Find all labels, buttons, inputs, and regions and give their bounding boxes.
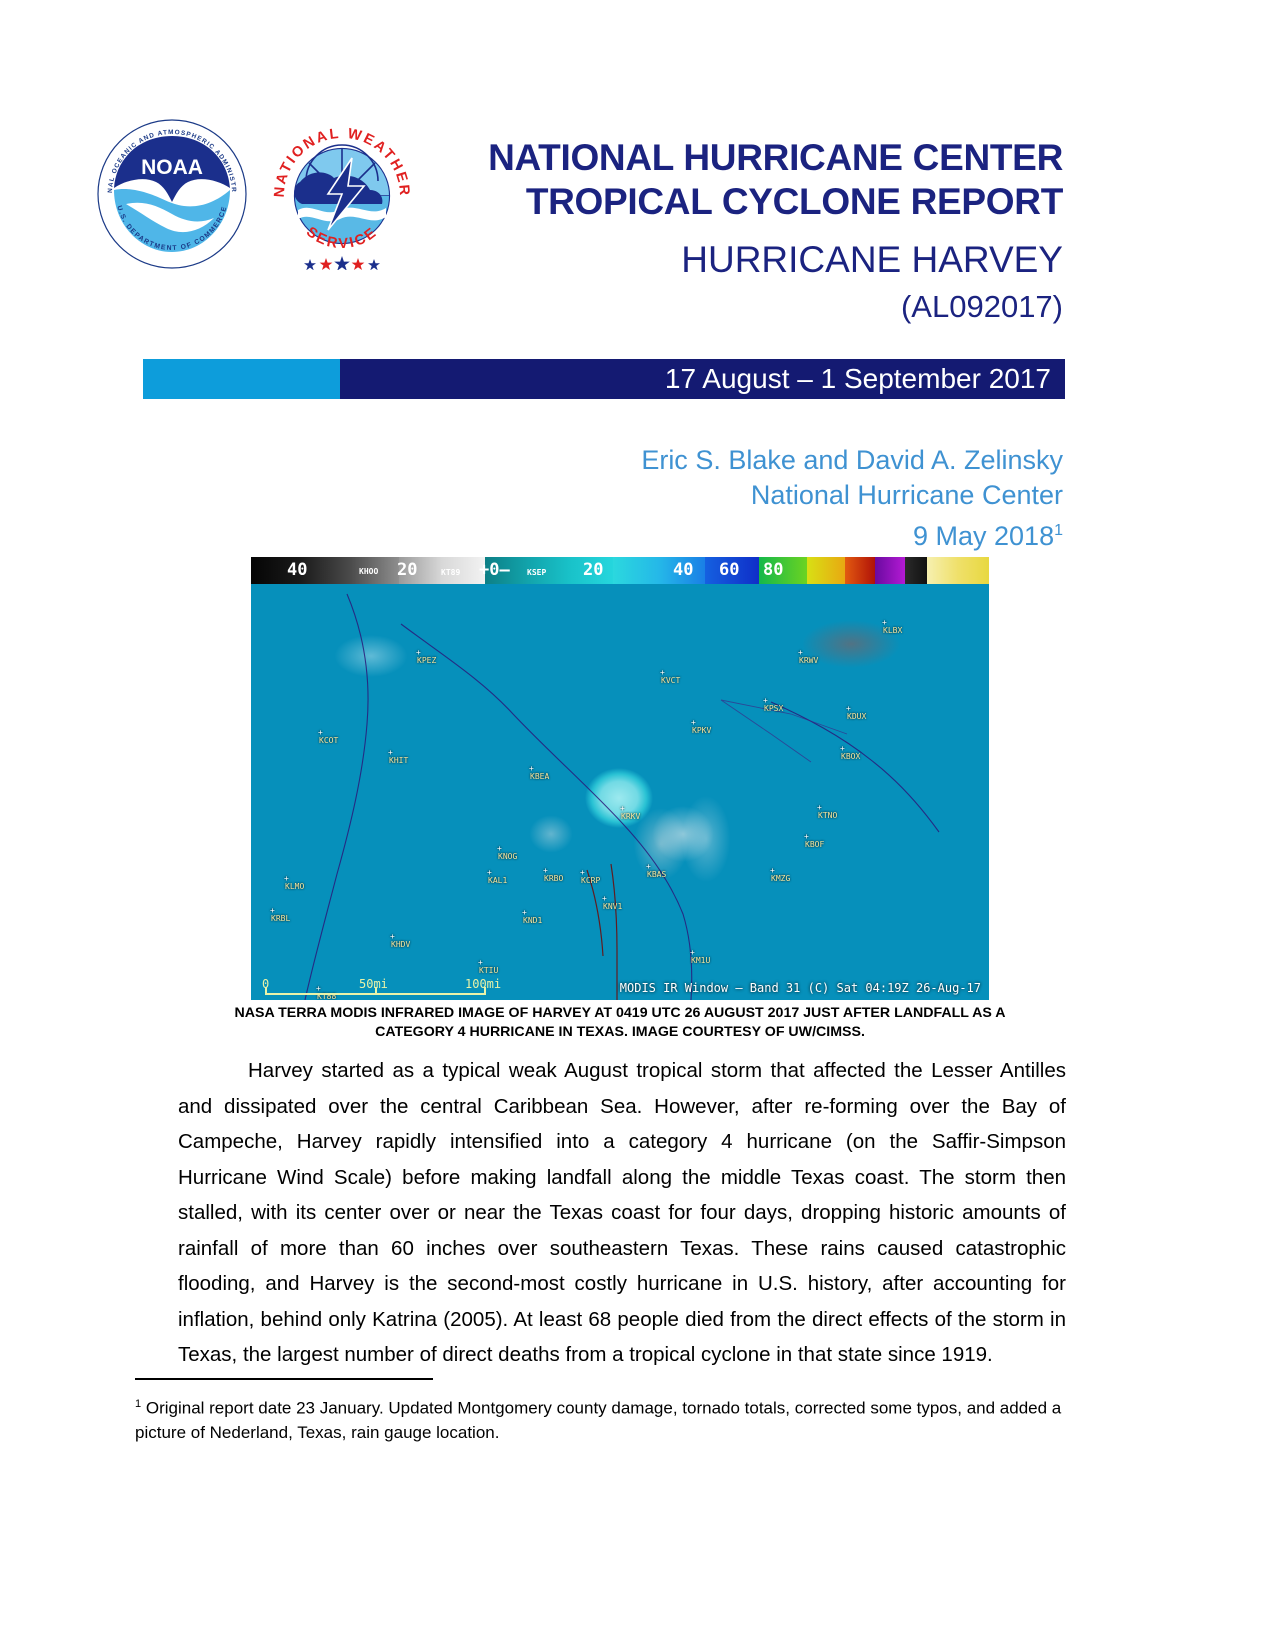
banner-date-range: 17 August – 1 September 2017 xyxy=(340,359,1065,399)
figure-caption: NASA TERRA MODIS INFRARED IMAGE OF HARVE… xyxy=(200,1004,1040,1042)
nws-logo: NATIONAL WEATHER SERVICE xyxy=(266,118,418,270)
station-label: KRBL xyxy=(271,914,290,923)
scale-label-mid: 50mi xyxy=(359,977,388,991)
title-line-1: NATIONAL HURRICANE CENTER xyxy=(403,136,1063,180)
station-label: KCRP xyxy=(581,876,600,885)
station-label: KMZG xyxy=(771,874,790,883)
station-label: KPSX xyxy=(764,704,783,713)
date-banner: 17 August – 1 September 2017 xyxy=(143,359,1065,399)
colorbar-label-0: 40 xyxy=(287,557,307,584)
station-label: KPEZ xyxy=(417,656,436,665)
colorbar-label-5: 60 xyxy=(719,557,739,584)
station-label: KVCT xyxy=(661,676,680,685)
satellite-figure: 40 20 +0– 20 40 60 80 KHOO KT89 KSEP xyxy=(251,557,989,1000)
svg-text:NOAA: NOAA xyxy=(141,156,203,179)
station-label: KBAS xyxy=(647,870,666,879)
footnote-separator xyxy=(135,1378,433,1380)
station-label: KAL1 xyxy=(488,876,507,885)
scale-label-end: 100mi xyxy=(465,977,501,991)
scale-label-zero: 0 xyxy=(262,977,269,991)
station-label: KHDV xyxy=(391,940,410,949)
colorbar-labels: 40 20 +0– 20 40 60 80 KHOO KT89 KSEP xyxy=(251,557,989,584)
station-label: KBOF xyxy=(805,840,824,849)
station-label: KBEA xyxy=(530,772,549,781)
station-label: KBOX xyxy=(841,752,860,761)
station-label: KHIT xyxy=(389,756,408,765)
footnote: 1 Original report date 23 January. Updat… xyxy=(135,1392,1070,1445)
station-label: KRKV xyxy=(621,812,640,821)
station-label: KCOT xyxy=(319,736,338,745)
figure-caption-line-2: CATEGORY 4 HURRICANE IN TEXAS. IMAGE COU… xyxy=(200,1023,1040,1042)
station-label: KPKV xyxy=(692,726,711,735)
document-page: NOAA NATIONAL OCEANIC AND ATMOSPHERIC AD… xyxy=(0,0,1265,1637)
station-label: KDUX xyxy=(847,712,866,721)
colorbar-label-2: +0– xyxy=(479,557,510,584)
colorbar-label-1: 20 xyxy=(397,557,417,584)
author-affiliation: National Hurricane Center xyxy=(641,478,1063,513)
figure-caption-line-1: NASA TERRA MODIS INFRARED IMAGE OF HARVE… xyxy=(200,1004,1040,1023)
author-names: Eric S. Blake and David A. Zelinsky xyxy=(641,443,1063,478)
colorbar-label-3: 20 xyxy=(583,557,603,584)
author-date-footnote-marker: 1 xyxy=(1054,522,1063,539)
storm-name: HURRICANE HARVEY xyxy=(403,234,1063,286)
agency-logos: NOAA NATIONAL OCEANIC AND ATMOSPHERIC AD… xyxy=(96,118,418,270)
station-label: KND1 xyxy=(523,916,542,925)
station-label: KTIU xyxy=(479,966,498,975)
modis-credit-text: MODIS IR Window – Band 31 (C) Sat 04:19Z… xyxy=(620,981,981,995)
station-label: KRBO xyxy=(544,874,563,883)
station-label: KTNO xyxy=(818,811,837,820)
summary-paragraph: Harvey started as a typical weak August … xyxy=(178,1053,1066,1373)
station-label: KNV1 xyxy=(603,902,622,911)
station-label: KM1U xyxy=(691,956,710,965)
footnote-text: Original report date 23 January. Updated… xyxy=(135,1399,1061,1442)
station-label: KNOG xyxy=(498,852,517,861)
station-label: KRWV xyxy=(799,656,818,665)
author-date-text: 9 May 2018 xyxy=(913,521,1054,551)
title-line-2: TROPICAL CYCLONE REPORT xyxy=(403,180,1063,224)
colorbar-label-6: 80 xyxy=(763,557,783,584)
document-header: NOAA NATIONAL OCEANIC AND ATMOSPHERIC AD… xyxy=(0,0,1265,300)
colorbar-label-4: 40 xyxy=(673,557,693,584)
station-label: KLBX xyxy=(883,626,902,635)
noaa-logo: NOAA NATIONAL OCEANIC AND ATMOSPHERIC AD… xyxy=(96,118,248,270)
storm-id: (AL092017) xyxy=(403,286,1063,328)
station-label: KLMO xyxy=(285,882,304,891)
station-labels: KLBX KPEZ KVCT KRWV KPSX KPKV KCOT KDUX … xyxy=(251,584,989,1000)
author-date: 9 May 20181 xyxy=(641,513,1063,554)
banner-accent-block xyxy=(143,359,340,399)
report-title-block: NATIONAL HURRICANE CENTER TROPICAL CYCLO… xyxy=(403,136,1063,328)
colorbar-tiny-label-0: KHOO xyxy=(359,557,378,587)
author-block: Eric S. Blake and David A. Zelinsky Nati… xyxy=(641,443,1063,554)
